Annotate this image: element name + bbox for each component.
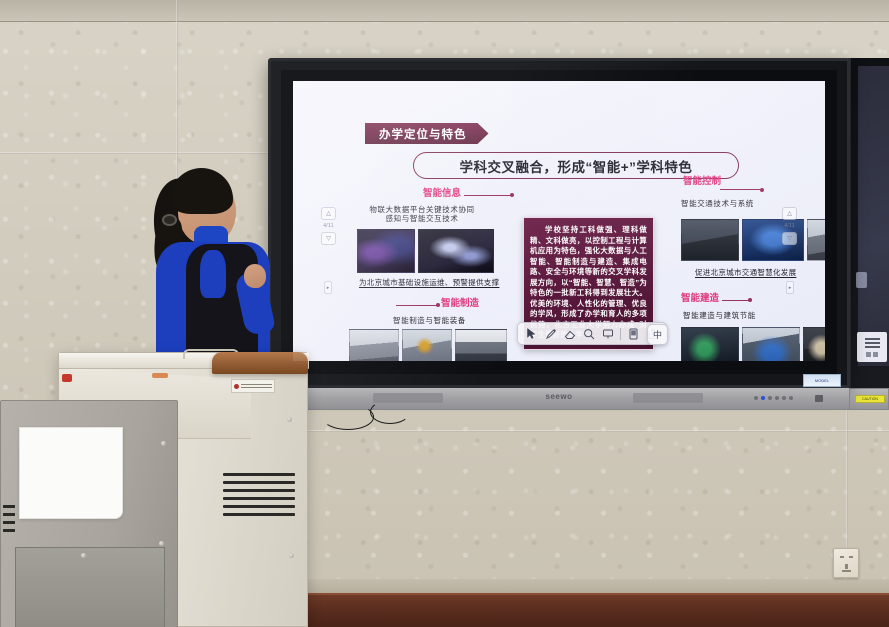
tablet-tool-icon[interactable] bbox=[624, 325, 643, 342]
podium-control-badge[interactable] bbox=[231, 379, 275, 393]
interactive-whiteboard[interactable]: 办学定位与特色 学科交叉融合，形成“智能+”学科特色 智能信息 物联大数据平台关… bbox=[268, 58, 850, 388]
photo-row-intelligent-control bbox=[681, 219, 825, 261]
nav-up-icon[interactable]: △ bbox=[321, 207, 336, 220]
podium-red-button[interactable] bbox=[62, 374, 72, 382]
podium-vent-grille-left bbox=[3, 505, 15, 545]
lecture-hall-photo: CAUTION 办学定位与特色 学科交叉融合，形成“智能+”学科特色 智能信息 bbox=[0, 0, 889, 627]
heading-rule bbox=[396, 305, 438, 306]
slide-photo bbox=[349, 329, 399, 361]
annotation-toolbar[interactable] bbox=[517, 322, 667, 345]
nav-down-icon[interactable]: ▽ bbox=[321, 232, 336, 245]
section-caption-intelligent-control: 促进北京城市交通智慧化发展 bbox=[695, 267, 796, 278]
presenter-hair-tie bbox=[162, 214, 177, 226]
nav-handle-left[interactable]: ▸ bbox=[324, 281, 332, 294]
toolbar-divider bbox=[620, 328, 621, 340]
section-caption-intelligent-information: 为北京城市基础设施运维、预警提供支撑 bbox=[359, 277, 499, 288]
slide-photo bbox=[402, 329, 452, 361]
ceiling-band bbox=[0, 0, 889, 22]
podium-orange-marker bbox=[152, 373, 168, 378]
podium-front-body bbox=[0, 400, 178, 627]
podium-screw bbox=[287, 417, 292, 422]
ime-toggle-icon: 中 bbox=[653, 328, 662, 341]
presenter-hair bbox=[170, 168, 233, 214]
slide-title-banner: 办学定位与特色 bbox=[365, 123, 489, 144]
section-subheading-intelligent-information: 物联大数据平台关键技术协同感知与智能交互技术 bbox=[367, 205, 477, 224]
section-subheading-intelligent-control: 智能交通技术与系统 bbox=[681, 199, 767, 208]
section-heading-intelligent-construction: 智能建造 bbox=[681, 294, 719, 304]
heading-rule bbox=[720, 189, 762, 190]
status-led-row bbox=[754, 396, 793, 400]
secondary-display-base: CAUTION bbox=[848, 388, 889, 410]
model-sticker: MODEL bbox=[803, 374, 841, 387]
cursor-tool-icon[interactable] bbox=[522, 325, 541, 342]
presenter bbox=[148, 168, 270, 368]
nav-up-icon[interactable]: △ bbox=[782, 207, 797, 220]
eraser-tool-icon[interactable] bbox=[560, 325, 579, 342]
slide-photo bbox=[803, 327, 825, 361]
power-indicator bbox=[234, 384, 239, 389]
panel-collapse-handle[interactable] bbox=[856, 272, 867, 288]
slide-photo bbox=[742, 327, 800, 361]
port-icon bbox=[815, 395, 823, 402]
nav-handle-right[interactable]: ▸ bbox=[786, 281, 794, 294]
slide-subtitle: 学科交叉融合，形成“智能+”学科特色 bbox=[413, 152, 739, 179]
slide-nav-right[interactable]: △ 4/11 ▽ bbox=[782, 207, 797, 245]
podium-paper-sheet bbox=[19, 427, 123, 519]
pen-tool-icon[interactable] bbox=[541, 325, 560, 342]
secondary-display-panel bbox=[848, 58, 889, 388]
slide-photo bbox=[681, 327, 739, 361]
slide-nav-left[interactable]: △ 4/11 ▽ bbox=[321, 207, 336, 245]
photo-row-intelligent-information bbox=[357, 229, 494, 273]
slide-photo bbox=[357, 229, 415, 273]
cable bbox=[370, 400, 410, 424]
menu-icon[interactable] bbox=[857, 332, 887, 362]
presenter-hand bbox=[244, 264, 266, 288]
ime-toggle-button[interactable]: 中 bbox=[647, 324, 668, 345]
display-bezel: 办学定位与特色 学科交叉融合，形成“智能+”学科特色 智能信息 物联大数据平台关… bbox=[281, 70, 837, 374]
nav-down-icon[interactable]: ▽ bbox=[782, 232, 797, 245]
secondary-display-screen bbox=[858, 66, 889, 366]
slide-counter: 4/11 bbox=[784, 223, 795, 229]
photo-row-intelligent-construction bbox=[681, 327, 825, 361]
slide-photo bbox=[455, 329, 507, 361]
speaker-grille bbox=[633, 393, 703, 403]
photo-row-intelligent-manufacturing bbox=[349, 329, 507, 361]
wall-outlet bbox=[833, 548, 859, 578]
section-subheading-intelligent-manufacturing: 智能制造与智能装备 bbox=[393, 316, 466, 325]
section-heading-intelligent-manufacturing: 智能制造 bbox=[441, 299, 479, 309]
section-heading-intelligent-information: 智能信息 bbox=[423, 189, 461, 199]
presentation-slide[interactable]: 办学定位与特色 学科交叉融合，形成“智能+”学科特色 智能信息 物联大数据平台关… bbox=[293, 81, 825, 361]
section-subheading-intelligent-construction: 智能建造与建筑节能 bbox=[683, 311, 756, 320]
caution-label: CAUTION bbox=[855, 395, 885, 403]
slide-photo bbox=[681, 219, 739, 261]
display-brand-label: seewo bbox=[546, 392, 573, 401]
podium-screw bbox=[161, 441, 166, 446]
slide-photo bbox=[418, 229, 494, 273]
cable bbox=[322, 404, 374, 430]
heading-rule bbox=[722, 300, 750, 301]
podium-screw bbox=[81, 553, 86, 558]
magnifier-tool-icon[interactable] bbox=[579, 325, 598, 342]
slide-photo bbox=[807, 219, 825, 261]
podium-vent-grille bbox=[223, 473, 295, 519]
slide-counter: 4/11 bbox=[323, 223, 334, 229]
display-screen[interactable]: 办学定位与特色 学科交叉融合，形成“智能+”学科特色 智能信息 物联大数据平台关… bbox=[293, 81, 825, 361]
lectern-wood-top bbox=[212, 352, 308, 374]
podium-screw bbox=[289, 553, 294, 558]
podium-front bbox=[0, 400, 180, 627]
spotlight-tool-icon[interactable] bbox=[598, 325, 617, 342]
section-heading-intelligent-control: 智能控制 bbox=[683, 177, 723, 187]
podium-screw bbox=[159, 541, 164, 546]
podium-lower-panel bbox=[15, 547, 165, 627]
heading-rule bbox=[464, 195, 512, 196]
